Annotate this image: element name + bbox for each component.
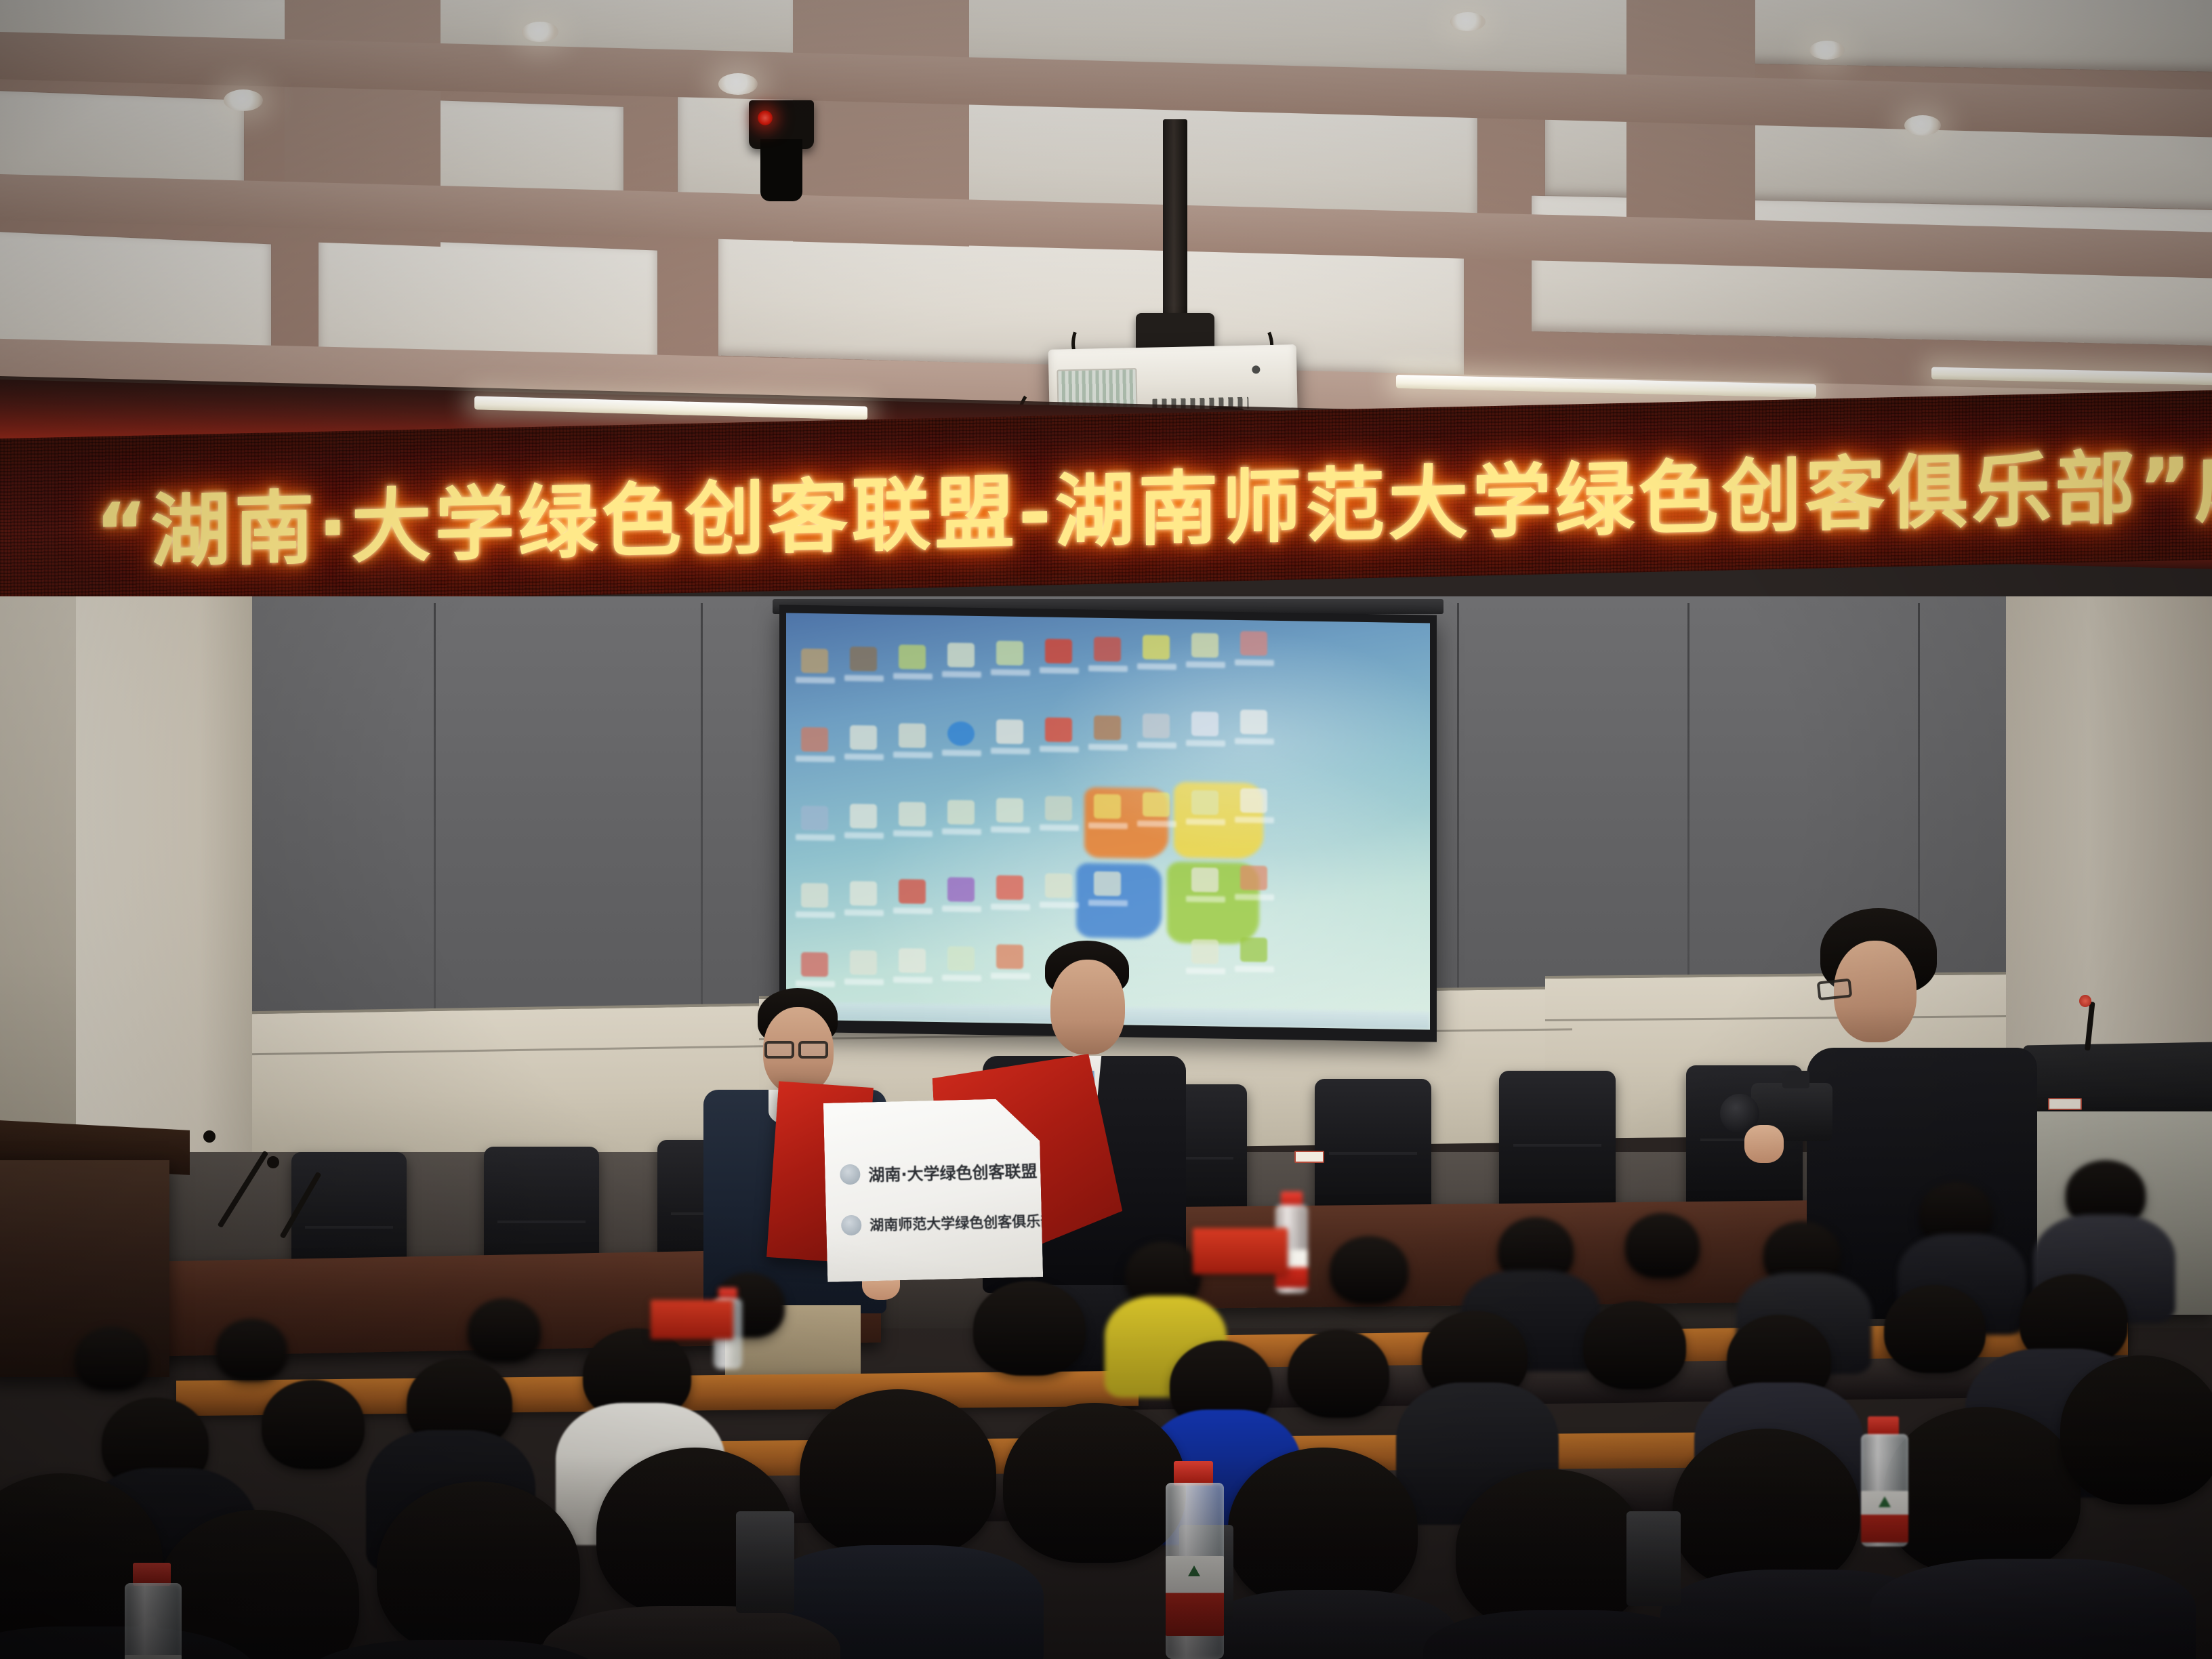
- desktop-icon: [1191, 867, 1218, 893]
- desktop-icon: [899, 644, 926, 670]
- audience-body-front: [1870, 1559, 2196, 1659]
- auditorium-photo: “湖南·大学绿色创客联盟-湖南师范大学绿色创客俱乐部”成立大会: [0, 0, 2212, 1659]
- stage-chair: [1499, 1071, 1616, 1212]
- seat-back: [736, 1511, 794, 1613]
- led-banner-text: “湖南·大学绿色创客联盟-湖南师范大学绿色创客俱乐部”成立大会: [95, 415, 2212, 583]
- desktop-icon: [1240, 937, 1267, 962]
- desktop-icon: [801, 649, 828, 674]
- desktop-icon: [1094, 794, 1121, 819]
- desktop-icon: [1094, 637, 1121, 662]
- nongfu-pine-logo: [1188, 1565, 1200, 1576]
- desktop-icon: [899, 948, 926, 973]
- bottle-body: [125, 1583, 182, 1659]
- red-gift-box: [651, 1300, 733, 1339]
- desktop-icon: [1240, 788, 1267, 813]
- bottle-label: [125, 1655, 182, 1659]
- audience-head: [468, 1298, 541, 1362]
- bottle-cap: [133, 1563, 171, 1586]
- audience-head-front: [1003, 1403, 1186, 1563]
- security-camera-led: [758, 110, 773, 125]
- desktop-icon: [947, 877, 975, 902]
- photographer-hand: [1744, 1125, 1784, 1163]
- dslr-camera-prism: [1782, 1071, 1809, 1088]
- audience-head: [1884, 1285, 1986, 1373]
- wall-pillar-left-face: [76, 596, 252, 1206]
- desktop-icon: [850, 725, 877, 750]
- plaque-line-1: 湖南·大学绿色创客联盟: [840, 1158, 1038, 1186]
- plaque-logo-icon: [841, 1215, 862, 1236]
- desktop-icon: [1045, 718, 1072, 743]
- desktop-icon: [1240, 865, 1267, 890]
- security-camera-lens: [760, 139, 802, 201]
- bottle-cap: [1868, 1416, 1899, 1435]
- desktop-icon: [947, 800, 975, 825]
- desktop-icon: [850, 950, 877, 975]
- desktop-icon: [850, 647, 877, 672]
- red-gift-box: [1193, 1228, 1288, 1274]
- audience-head-front: [1884, 1407, 2081, 1575]
- desktop-icon: [1240, 631, 1267, 656]
- projector-indicator: [1252, 365, 1260, 373]
- desktop-icon: [996, 875, 1023, 900]
- desktop-icon: [850, 881, 877, 906]
- official-left-glasses: [798, 1041, 828, 1059]
- desktop-icon: [899, 723, 926, 748]
- desktop-icon: [801, 883, 828, 908]
- photographer-glasses: [1817, 978, 1853, 1000]
- unveiled-plaque: 湖南·大学绿色创客联盟 湖南师范大学绿色创客俱乐部: [823, 1098, 1043, 1282]
- desktop-icon: [1094, 716, 1121, 741]
- audience-head-front: [1228, 1448, 1418, 1610]
- desktop-icon: [947, 642, 975, 668]
- desktop-icon: [1045, 874, 1072, 899]
- downlight: [224, 89, 263, 111]
- console-microphone-head: [2079, 995, 2091, 1007]
- bottle-cap: [1174, 1461, 1213, 1486]
- projector-mount-pole: [1163, 119, 1187, 333]
- audience-head: [216, 1319, 287, 1381]
- desktop-icon: [801, 806, 828, 831]
- downlight: [1809, 41, 1845, 60]
- downlight: [1904, 115, 1941, 136]
- official-left-glasses: [764, 1041, 794, 1059]
- desktop-icon: [801, 727, 828, 752]
- podium-microphone-head: [203, 1130, 216, 1143]
- desktop-icon: [996, 640, 1023, 665]
- desktop-icon: [899, 802, 926, 827]
- desktop-icon: [850, 804, 877, 829]
- nameplate: [1294, 1151, 1324, 1163]
- audience-head: [1288, 1330, 1389, 1418]
- desktop-icon: [1143, 714, 1170, 739]
- water-bottle: [1160, 1461, 1231, 1659]
- audience-head: [262, 1380, 365, 1469]
- water-bottle: [1857, 1416, 1912, 1545]
- nongfu-pine-logo: [1879, 1496, 1891, 1507]
- ceiling-panel: [1735, 0, 2212, 73]
- bottle-cap: [1281, 1191, 1303, 1206]
- desktop-icon: [1094, 872, 1121, 897]
- bottle-label: [1861, 1491, 1908, 1542]
- desktop-icon: [1143, 635, 1170, 660]
- desktop-icon: [1191, 790, 1218, 815]
- audience-head: [1330, 1236, 1408, 1304]
- bottle-label: [1166, 1556, 1224, 1636]
- desktop-icon: [801, 952, 828, 977]
- audience-head: [1583, 1301, 1686, 1389]
- stage-chair: [1315, 1079, 1431, 1220]
- audience-head-front: [2060, 1355, 2212, 1504]
- official-right-head: [1050, 960, 1125, 1054]
- table-microphone-head: [267, 1156, 279, 1168]
- desktop-icon: [1143, 792, 1170, 817]
- desktop-icon: [1045, 796, 1072, 821]
- plaque-line-2: 湖南师范大学绿色创客俱乐部: [841, 1210, 1043, 1236]
- water-bottle: [119, 1563, 187, 1659]
- audience-body-front: [1200, 1590, 1457, 1659]
- audience-head: [75, 1327, 149, 1391]
- desktop-icon: [1240, 710, 1267, 735]
- desktop-icon: [1045, 639, 1072, 664]
- desktop-icon: [899, 879, 926, 904]
- audience-head: [973, 1281, 1086, 1376]
- plaque-logo-icon: [840, 1164, 861, 1185]
- downlight: [718, 73, 758, 95]
- desktop-icon: [1191, 712, 1218, 737]
- audience-head-front: [1456, 1469, 1645, 1632]
- audience-head-front: [377, 1481, 580, 1656]
- seat-back: [1626, 1511, 1681, 1606]
- downlight: [1450, 12, 1486, 31]
- desktop-icon: [1191, 633, 1218, 658]
- downlight: [522, 22, 558, 42]
- internet-explorer-icon: [947, 721, 975, 746]
- audience-head-front: [1673, 1429, 1860, 1590]
- desktop-icon: [996, 719, 1023, 744]
- audience-head: [1625, 1213, 1700, 1278]
- audience-head-front: [800, 1389, 996, 1559]
- desktop-icon: [996, 798, 1023, 823]
